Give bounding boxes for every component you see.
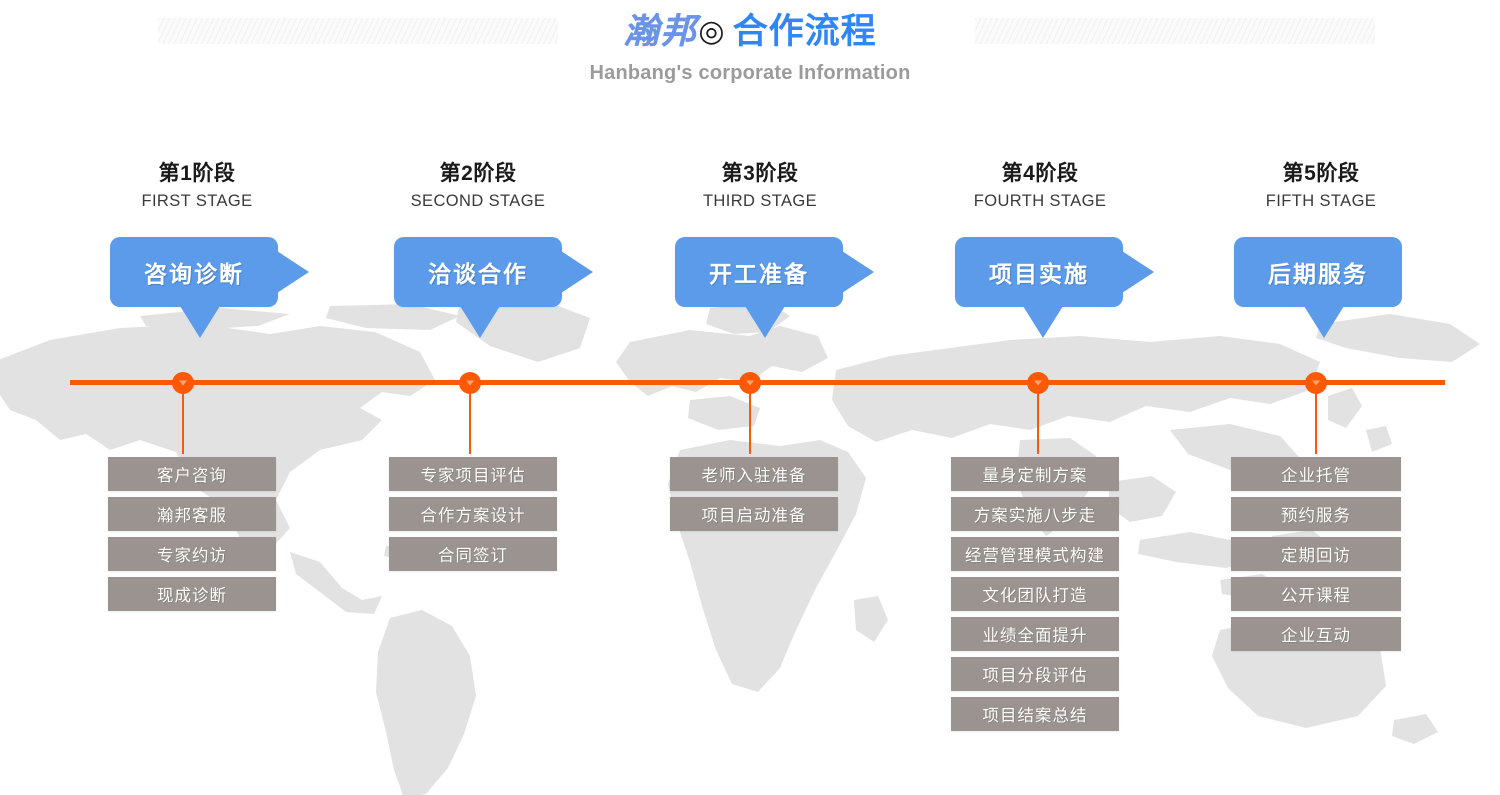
stage-bubble-1[interactable]: 咨询诊断	[110, 237, 278, 307]
bubble-tail-icon-4	[1023, 306, 1063, 338]
bubble-right-arrow-icon-3	[842, 251, 874, 293]
list-item-label: 量身定制方案	[983, 462, 1088, 486]
page-title: 瀚邦◎合作流程	[0, 8, 1500, 58]
list-item[interactable]: 现成诊断	[108, 577, 276, 611]
timeline-connector-2	[469, 394, 471, 454]
list-item[interactable]: 企业托管	[1231, 457, 1401, 491]
list-item[interactable]: 老师入驻准备	[670, 457, 838, 491]
list-item[interactable]: 定期回访	[1231, 537, 1401, 571]
page-title-main: 合作流程	[733, 12, 877, 51]
list-item-label: 方案实施八步走	[974, 502, 1097, 526]
stage-title-en-3: THIRD STAGE	[645, 190, 875, 212]
list-item[interactable]: 文化团队打造	[951, 577, 1119, 611]
list-item-label: 公开课程	[1281, 582, 1351, 606]
bubble-right-arrow-icon-1	[277, 251, 309, 293]
stage-bubble-2[interactable]: 洽谈合作	[394, 237, 562, 307]
stage-bubble-wrap-3: 开工准备	[675, 237, 843, 307]
list-item-label: 客户咨询	[157, 462, 227, 486]
timeline-connector-4	[1037, 394, 1039, 454]
list-item[interactable]: 项目结案总结	[951, 697, 1119, 731]
stage-heading-4: 第4阶段FOURTH STAGE	[925, 160, 1155, 212]
list-item-label: 合同签订	[438, 542, 508, 566]
page-header: 瀚邦◎合作流程 Hanbang's corporate Information	[0, 8, 1500, 85]
list-item-label: 企业托管	[1281, 462, 1351, 486]
stage-bubble-label-5: 后期服务	[1268, 255, 1368, 289]
stage-heading-2: 第2阶段SECOND STAGE	[363, 160, 593, 212]
stage-bubble-wrap-2: 洽谈合作	[394, 237, 562, 307]
list-item[interactable]: 业绩全面提升	[951, 617, 1119, 651]
brand-mark-icon: ◎	[698, 15, 724, 48]
timeline-node-5[interactable]	[1305, 372, 1327, 394]
list-item[interactable]: 专家项目评估	[389, 457, 557, 491]
list-item[interactable]: 企业互动	[1231, 617, 1401, 651]
list-item[interactable]: 合作方案设计	[389, 497, 557, 531]
stage-bubble-3[interactable]: 开工准备	[675, 237, 843, 307]
stage-title-cn-2: 第2阶段	[363, 160, 593, 188]
list-item[interactable]: 量身定制方案	[951, 457, 1119, 491]
list-item-label: 合作方案设计	[421, 502, 526, 526]
bubble-tail-icon-3	[745, 306, 785, 338]
list-item-label: 老师入驻准备	[702, 462, 807, 486]
list-item[interactable]: 合同签订	[389, 537, 557, 571]
infographic-canvas: 瀚邦◎合作流程 Hanbang's corporate Information …	[0, 0, 1500, 795]
page-subtitle: Hanbang's corporate Information	[0, 62, 1500, 85]
bubble-tail-icon-2	[460, 306, 500, 338]
stage-bubble-5[interactable]: 后期服务	[1234, 237, 1402, 307]
stage-bubble-label-1: 咨询诊断	[144, 255, 244, 289]
list-item-label: 现成诊断	[157, 582, 227, 606]
stage-title-cn-4: 第4阶段	[925, 160, 1155, 188]
list-item-label: 定期回访	[1281, 542, 1351, 566]
timeline-node-2[interactable]	[459, 372, 481, 394]
stage-item-list-2: 专家项目评估合作方案设计合同签订	[389, 457, 557, 577]
list-item[interactable]: 项目分段评估	[951, 657, 1119, 691]
list-item-label: 瀚邦客服	[157, 502, 227, 526]
stage-bubble-label-4: 项目实施	[989, 255, 1089, 289]
stage-title-en-1: FIRST STAGE	[82, 190, 312, 212]
timeline-connector-1	[182, 394, 184, 454]
bubble-right-arrow-icon-4	[1122, 251, 1154, 293]
stage-bubble-label-2: 洽谈合作	[428, 255, 528, 289]
list-item[interactable]: 经营管理模式构建	[951, 537, 1119, 571]
stage-title-cn-1: 第1阶段	[82, 160, 312, 188]
stage-bubble-label-3: 开工准备	[709, 255, 809, 289]
timeline-node-4[interactable]	[1027, 372, 1049, 394]
list-item-label: 企业互动	[1281, 622, 1351, 646]
stage-item-list-3: 老师入驻准备项目启动准备	[670, 457, 838, 537]
timeline-node-1[interactable]	[172, 372, 194, 394]
list-item-label: 专家项目评估	[421, 462, 526, 486]
list-item-label: 业绩全面提升	[983, 622, 1088, 646]
list-item[interactable]: 公开课程	[1231, 577, 1401, 611]
list-item[interactable]: 方案实施八步走	[951, 497, 1119, 531]
stage-title-cn-5: 第5阶段	[1206, 160, 1436, 188]
stage-bubble-wrap-5: 后期服务	[1234, 237, 1402, 307]
timeline-connector-3	[749, 394, 751, 454]
stage-title-en-5: FIFTH STAGE	[1206, 190, 1436, 212]
stage-title-en-4: FOURTH STAGE	[925, 190, 1155, 212]
bubble-tail-icon-5	[1304, 306, 1344, 338]
stage-bubble-4[interactable]: 项目实施	[955, 237, 1123, 307]
list-item-label: 项目分段评估	[983, 662, 1088, 686]
list-item-label: 项目结案总结	[983, 702, 1088, 726]
list-item[interactable]: 项目启动准备	[670, 497, 838, 531]
list-item-label: 项目启动准备	[702, 502, 807, 526]
bubble-tail-icon-1	[180, 306, 220, 338]
timeline-connector-5	[1315, 394, 1317, 454]
list-item[interactable]: 专家约访	[108, 537, 276, 571]
stage-item-list-1: 客户咨询瀚邦客服专家约访现成诊断	[108, 457, 276, 617]
bubble-right-arrow-icon-2	[561, 251, 593, 293]
stage-title-en-2: SECOND STAGE	[363, 190, 593, 212]
stage-heading-5: 第5阶段FIFTH STAGE	[1206, 160, 1436, 212]
list-item[interactable]: 预约服务	[1231, 497, 1401, 531]
list-item[interactable]: 客户咨询	[108, 457, 276, 491]
stage-heading-1: 第1阶段FIRST STAGE	[82, 160, 312, 212]
stage-title-cn-3: 第3阶段	[645, 160, 875, 188]
list-item-label: 文化团队打造	[983, 582, 1088, 606]
stage-item-list-4: 量身定制方案方案实施八步走经营管理模式构建文化团队打造业绩全面提升项目分段评估项…	[951, 457, 1119, 737]
brand-script-text: 瀚邦	[623, 11, 697, 52]
stage-item-list-5: 企业托管预约服务定期回访公开课程企业互动	[1231, 457, 1401, 657]
stage-heading-3: 第3阶段THIRD STAGE	[645, 160, 875, 212]
list-item-label: 预约服务	[1281, 502, 1351, 526]
list-item-label: 经营管理模式构建	[965, 542, 1105, 566]
list-item-label: 专家约访	[157, 542, 227, 566]
timeline-node-3[interactable]	[739, 372, 761, 394]
stage-bubble-wrap-1: 咨询诊断	[110, 237, 278, 307]
stage-bubble-wrap-4: 项目实施	[955, 237, 1123, 307]
list-item[interactable]: 瀚邦客服	[108, 497, 276, 531]
